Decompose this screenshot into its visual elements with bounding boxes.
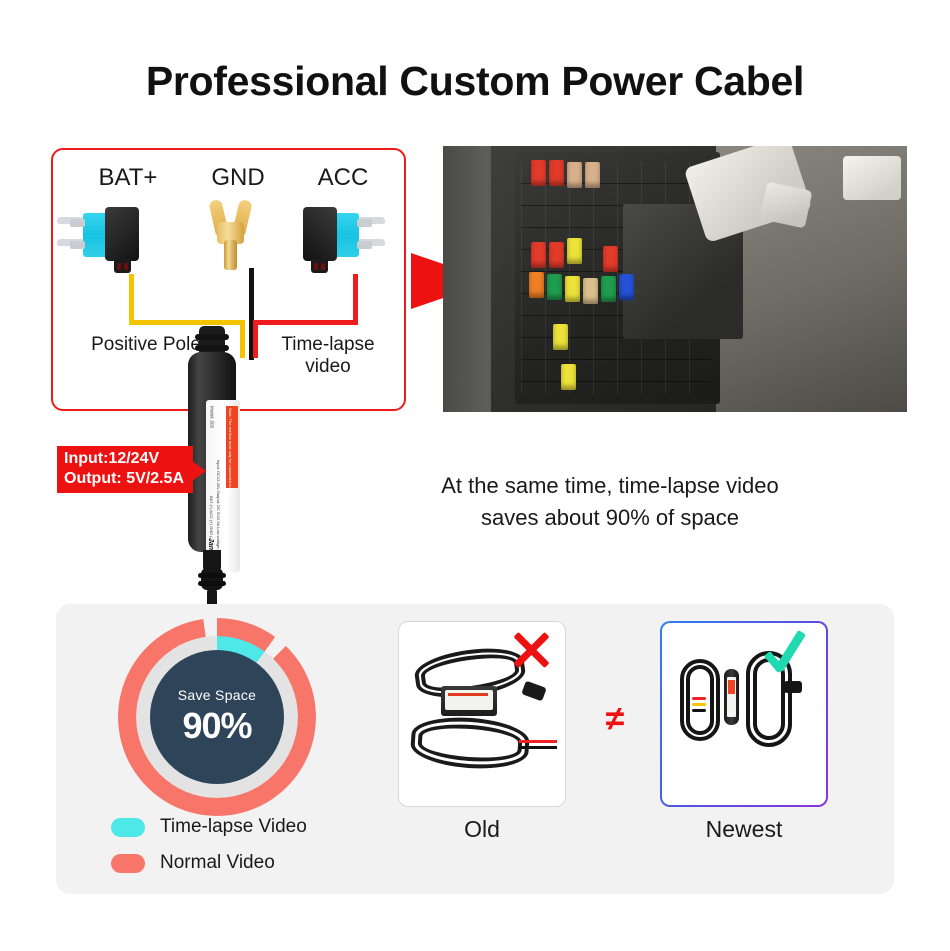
fork-barrel	[224, 240, 237, 270]
new-converter-module	[724, 669, 739, 725]
legend-label-timelapse: Time-lapse Video	[160, 816, 307, 838]
label-timelapse-video: Time-lapse video	[253, 334, 403, 378]
blade-fuse-10a	[531, 160, 546, 186]
blade-fuse-20a	[553, 324, 568, 350]
terminal-label-acc: ACC	[283, 164, 403, 192]
new-converter-sticker	[727, 677, 736, 717]
blade-fuse-10a	[531, 242, 546, 268]
module-note-text: Note: The red line must only be connecte…	[227, 408, 233, 498]
old-product-card	[398, 621, 566, 807]
newest-product-label: Newest	[660, 816, 828, 843]
old-usb-plug	[521, 681, 546, 702]
check-mark-icon	[766, 631, 818, 675]
ground-fork-terminal-icon	[205, 200, 257, 278]
module-pins-text: BAT (+) ACC (+) GND (-)	[208, 496, 214, 540]
blade-fuse-5a	[567, 162, 582, 188]
output-spec-text: Output: 5V/2.5A	[64, 469, 184, 489]
module-body: Model: Z03 Input: DC12-30V Output: DC 5V…	[188, 352, 236, 552]
input-spec-text: Input:12/24V	[64, 449, 184, 469]
space-saving-blurb: At the same time, time-lapse video saves…	[380, 470, 840, 534]
new-usb-plug	[784, 681, 802, 693]
photo-mounting-clip	[843, 156, 901, 200]
fuse-tap-body	[105, 207, 139, 261]
comparison-panel: Save Space 90% Time-lapse Video Normal V…	[56, 604, 894, 894]
wire-red-vertical	[353, 274, 358, 324]
donut-center-label: Save Space	[178, 687, 257, 703]
blurb-line2: saves about 90% of space	[380, 502, 840, 534]
blurb-line1: At the same time, time-lapse video	[380, 470, 840, 502]
module-lower-boot	[201, 568, 223, 590]
old-black-lead	[519, 746, 557, 749]
fuse-tap-body	[303, 207, 337, 261]
fuse-tap-connector-acc	[291, 205, 373, 273]
fuse-tap-neck	[114, 259, 131, 273]
legend-label-normal: Normal Video	[160, 852, 275, 874]
blade-fuse-25a	[583, 278, 598, 304]
blade-fuse-20a	[567, 238, 582, 264]
donut-center: Save Space 90%	[150, 650, 284, 784]
old-converter-sticker	[445, 690, 493, 710]
legend-item-timelapse: Time-lapse Video	[111, 816, 307, 838]
fuse-tap-connector-bat	[69, 205, 151, 273]
x-mark-icon	[509, 628, 553, 672]
wire-red-horizontal	[253, 320, 358, 325]
module-spec-label: Model: Z03 Input: DC12-30V Output: DC 5V…	[206, 400, 240, 572]
blade-fuse-30a	[601, 276, 616, 302]
blade-fuse-10a	[549, 160, 564, 186]
old-product-label: Old	[398, 816, 566, 843]
blade-fuse-10a	[549, 242, 564, 268]
old-red-lead	[519, 740, 557, 743]
save-space-donut-chart: Save Space 90%	[118, 618, 316, 816]
new-lead-wires	[692, 697, 714, 717]
blade-fuse-40a	[529, 272, 544, 298]
label-timelapse-line1: Time-lapse	[253, 334, 403, 356]
legend-item-normal: Normal Video	[111, 852, 307, 874]
blade-fuse-20a	[561, 364, 576, 390]
wire-yellow-vertical	[129, 274, 134, 324]
label-timelapse-line2: video	[253, 356, 403, 378]
legend-swatch-timelapse	[111, 818, 145, 837]
lead-wire-black	[692, 709, 706, 712]
product-infographic: Professional Custom Power Cabel BAT+ GND…	[0, 0, 950, 951]
newest-product-card	[660, 621, 828, 807]
lead-wire-yellow	[692, 703, 706, 706]
fuse-tap-neck	[311, 259, 328, 273]
chart-legend: Time-lapse Video Normal Video	[111, 816, 307, 888]
legend-swatch-normal	[111, 854, 145, 873]
module-model-text: Model: Z03	[208, 406, 215, 428]
old-converter-box	[441, 686, 497, 716]
page-title: Professional Custom Power Cabel	[0, 58, 950, 105]
io-spec-badge: Input:12/24V Output: 5V/2.5A	[57, 446, 193, 493]
blade-fuse-10a	[603, 246, 618, 272]
blade-fuse-30a	[547, 274, 562, 300]
blade-fuse-20a	[565, 276, 580, 302]
fuse-box-photo	[443, 146, 907, 412]
newest-card-inner	[662, 623, 826, 805]
lead-wire-red	[692, 697, 706, 700]
not-equal-icon: ≠	[590, 700, 640, 739]
badge-pointer-icon	[192, 461, 206, 481]
donut-center-value: 90%	[182, 705, 251, 747]
blade-fuse-15a	[619, 274, 634, 300]
blade-fuse-5a	[585, 162, 600, 188]
